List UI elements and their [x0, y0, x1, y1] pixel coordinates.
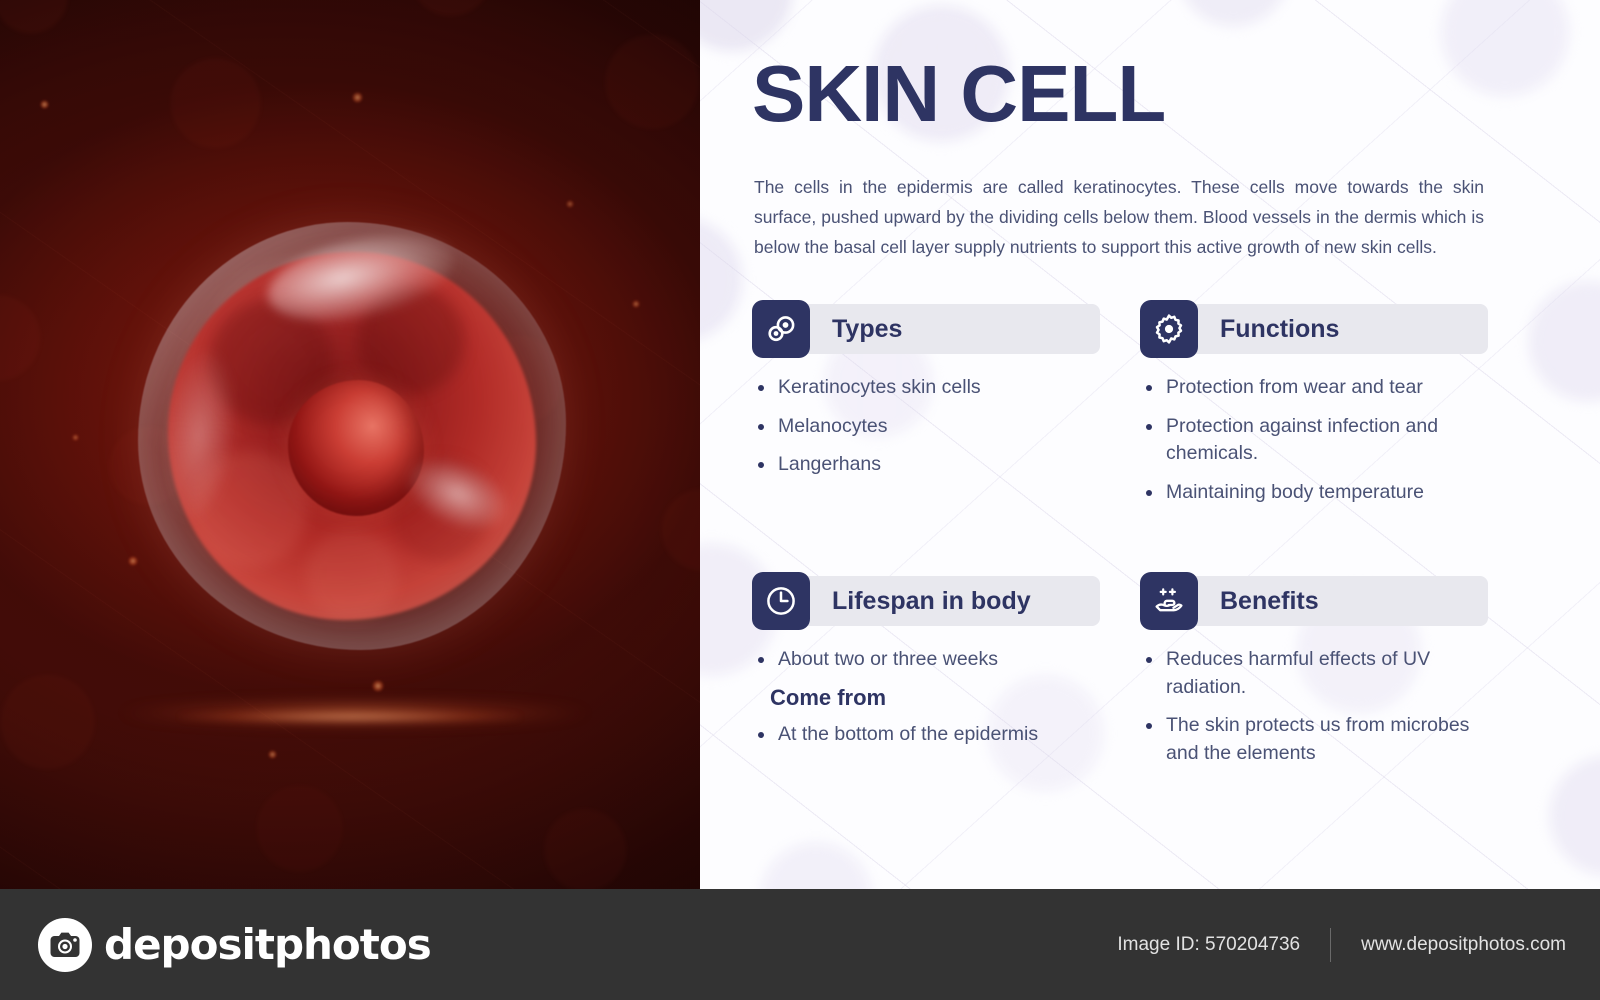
glow-streak-core [180, 712, 520, 722]
camera-icon [38, 918, 92, 972]
glow-particle [40, 100, 49, 109]
cell-illustration-panel [0, 0, 700, 889]
glow-particle [372, 680, 384, 692]
list-item: Protection against infection and chemica… [1140, 413, 1488, 468]
glow-particle [566, 200, 574, 208]
glow-particle [352, 92, 363, 103]
card-header: Benefits [1140, 572, 1488, 630]
gear-icon [1140, 300, 1198, 358]
intro-paragraph: The cells in the epidermis are called ke… [754, 172, 1484, 262]
footer-bar: depositphotos Image ID: 570204736 www.de… [0, 889, 1600, 1000]
infographic-stage: SKIN CELL The cells in the epidermis are… [0, 0, 1600, 1000]
clock-icon [752, 572, 810, 630]
cell-nucleus [288, 380, 424, 516]
list-item: At the bottom of the epidermis [752, 721, 1100, 749]
card-types: Types Keratinocytes skin cells Melanocyt… [752, 300, 1100, 490]
glow-particle [268, 750, 277, 759]
list-item: Melanocytes [752, 413, 1100, 441]
image-id-label: Image ID: 570204736 [1117, 934, 1300, 956]
card-title: Types [832, 315, 902, 344]
card-subheading: Come from [770, 685, 1100, 711]
glow-particle [72, 434, 79, 441]
card-title: Lifespan in body [832, 587, 1031, 616]
list-item: Reduces harmful effects of UV radiation. [1140, 646, 1488, 701]
cells-icon [752, 300, 810, 358]
card-functions: Functions Protection from wear and tear … [1140, 300, 1488, 518]
skin-cell-render [138, 222, 566, 650]
card-title: Benefits [1220, 587, 1319, 616]
list-item: The skin protects us from microbes and t… [1140, 712, 1488, 767]
card-header-pill [1170, 576, 1488, 626]
card-benefits: Benefits Reduces harmful effects of UV r… [1140, 572, 1488, 779]
card-bullet-list: Keratinocytes skin cells Melanocytes Lan… [752, 374, 1100, 479]
info-panel: SKIN CELL The cells in the epidermis are… [700, 0, 1600, 889]
page-title: SKIN CELL [752, 54, 1165, 134]
info-content: SKIN CELL The cells in the epidermis are… [752, 0, 1564, 889]
card-header-pill [782, 304, 1100, 354]
card-bullet-list: Reduces harmful effects of UV radiation.… [1140, 646, 1488, 768]
hand-care-icon [1140, 572, 1198, 630]
list-item: Keratinocytes skin cells [752, 374, 1100, 402]
list-item: Protection from wear and tear [1140, 374, 1488, 402]
list-item: Maintaining body temperature [1140, 479, 1488, 507]
card-header: Functions [1140, 300, 1488, 358]
card-sub-bullet-list: At the bottom of the epidermis [752, 721, 1100, 749]
card-header: Types [752, 300, 1100, 358]
glow-particle [128, 556, 138, 566]
website-link[interactable]: www.depositphotos.com [1361, 934, 1566, 956]
card-header: Lifespan in body [752, 572, 1100, 630]
list-item: About two or three weeks [752, 646, 1100, 674]
footer-meta: Image ID: 570204736 www.depositphotos.co… [1117, 928, 1566, 962]
card-title: Functions [1220, 315, 1339, 344]
list-item: Langerhans [752, 451, 1100, 479]
card-bullet-list: Protection from wear and tear Protection… [1140, 374, 1488, 507]
card-lifespan: Lifespan in body About two or three week… [752, 572, 1100, 759]
card-bullet-list: About two or three weeks [752, 646, 1100, 674]
brand-logo[interactable]: depositphotos [38, 918, 431, 972]
brand-name: depositphotos [104, 920, 431, 969]
glow-particle [632, 300, 640, 308]
footer-divider [1330, 928, 1331, 962]
